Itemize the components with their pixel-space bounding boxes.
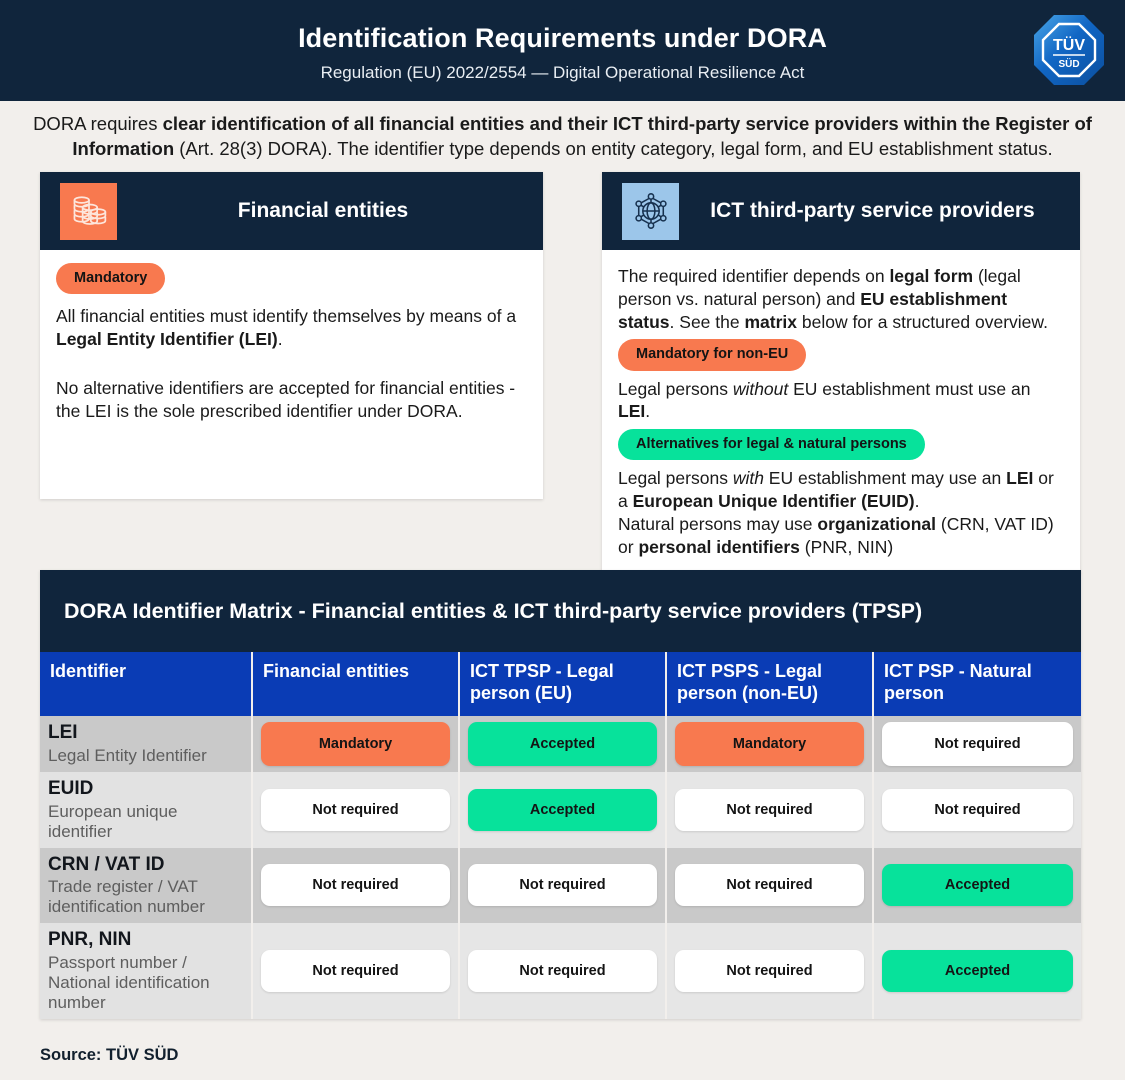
- matrix-table: Identifier Financial entities ICT TPSP -…: [40, 652, 1081, 1019]
- status-badge: Not required: [261, 950, 450, 992]
- status-badge: Not required: [882, 789, 1073, 831]
- column-header-ict-tpsp-eu: ICT TPSP - Legal person (EU): [459, 652, 666, 716]
- matrix-body: LEILegal Entity IdentifierMandatoryAccep…: [40, 716, 1081, 1019]
- identifier-name: LEI: [48, 722, 243, 744]
- status-badge: Not required: [882, 722, 1073, 766]
- status-badge: Not required: [261, 864, 450, 906]
- status-cell: Not required: [873, 772, 1081, 848]
- identifier-cell: PNR, NINPassport number / National ident…: [40, 923, 252, 1019]
- status-cell: Accepted: [873, 848, 1081, 924]
- page-header: Identification Requirements under DORA R…: [0, 0, 1125, 101]
- identifier-cell: EUIDEuropean unique identifier: [40, 772, 252, 848]
- status-cell: Mandatory: [252, 716, 459, 772]
- identifier-description: Passport number / National identificatio…: [48, 953, 243, 1013]
- status-badge: Not required: [675, 789, 864, 831]
- status-cell: Not required: [252, 923, 459, 1019]
- status-badge: Mandatory: [261, 722, 450, 766]
- status-badge: Not required: [675, 864, 864, 906]
- tuv-sud-logo: TÜV SÜD: [1031, 12, 1107, 88]
- cards-row: Financial entities Mandatory All financi…: [0, 167, 1125, 562]
- status-cell: Not required: [252, 848, 459, 924]
- column-header-financial-entities: Financial entities: [252, 652, 459, 716]
- ict-intro-b: legal form: [889, 266, 973, 286]
- status-cell: Not required: [873, 716, 1081, 772]
- card-financial-entities: Financial entities Mandatory All financi…: [40, 172, 543, 499]
- identifier-name: CRN / VAT ID: [48, 854, 243, 876]
- card-financial-text-2: No alternative identifiers are accepted …: [56, 377, 527, 423]
- column-header-ict-psps-non-eu: ICT PSPS - Legal person (non-EU): [666, 652, 873, 716]
- ict-nat-a: Natural persons may use: [618, 514, 817, 534]
- identifier-cell: CRN / VAT IDTrade register / VAT identif…: [40, 848, 252, 924]
- intro-paragraph: DORA requires clear identification of al…: [0, 101, 1125, 167]
- ict-noneu-a: Legal persons: [618, 379, 733, 399]
- identifier-description: Legal Entity Identifier: [48, 746, 243, 766]
- status-badge: Not required: [468, 950, 657, 992]
- status-cell: Not required: [459, 848, 666, 924]
- intro-part1: DORA requires: [33, 113, 163, 134]
- card-ict-eu-text: Legal persons with EU establishment may …: [618, 467, 1064, 558]
- card-financial-header: Financial entities: [40, 172, 543, 250]
- status-badge: Not required: [675, 950, 864, 992]
- table-row: EUIDEuropean unique identifierNot requir…: [40, 772, 1081, 848]
- card-ict-intro: The required identifier depends on legal…: [618, 265, 1064, 333]
- network-globe-icon: [622, 183, 679, 240]
- card-ict-title: ICT third-party service providers: [679, 199, 1080, 223]
- page-subtitle: Regulation (EU) 2022/2554 — Digital Oper…: [321, 63, 805, 83]
- intro-part2: (Art. 28(3) DORA). The identifier type d…: [174, 138, 1053, 159]
- ict-eu-b: EU establishment may use an: [764, 468, 1006, 488]
- status-badge: Accepted: [882, 864, 1073, 906]
- dora-identifier-matrix: DORA Identifier Matrix - Financial entit…: [40, 570, 1081, 1019]
- table-row: CRN / VAT IDTrade register / VAT identif…: [40, 848, 1081, 924]
- ict-eu-c: LEI: [1006, 468, 1033, 488]
- page-title: Identification Requirements under DORA: [298, 23, 827, 54]
- identifier-description: European unique identifier: [48, 802, 243, 842]
- matrix-title: DORA Identifier Matrix - Financial entit…: [40, 570, 1081, 652]
- logo-text-bottom: SÜD: [1058, 57, 1079, 70]
- status-badge: Mandatory: [675, 722, 864, 766]
- identifier-description: Trade register / VAT identification numb…: [48, 877, 243, 917]
- logo-text-top: TÜV: [1053, 35, 1085, 54]
- status-badge: Accepted: [468, 722, 657, 766]
- ict-eu-e: European Unique Identifier (EUID): [633, 491, 915, 511]
- column-header-ict-psp-natural: ICT PSP - Natural person: [873, 652, 1081, 716]
- status-cell: Accepted: [459, 716, 666, 772]
- matrix-header-row: Identifier Financial entities ICT TPSP -…: [40, 652, 1081, 716]
- fin-text1-b: Legal Entity Identifier (LEI): [56, 329, 278, 349]
- source-label: Source: TÜV SÜD: [40, 1046, 178, 1065]
- column-header-identifier: Identifier: [40, 652, 252, 716]
- status-badge: Accepted: [882, 950, 1073, 992]
- badge-mandatory: Mandatory: [56, 263, 165, 294]
- card-financial-title: Financial entities: [117, 199, 543, 223]
- card-ict-header: ICT third-party service providers: [602, 172, 1080, 250]
- card-ict-tpsp: ICT third-party service providers The re…: [602, 172, 1080, 574]
- card-ict-body: The required identifier depends on legal…: [602, 250, 1080, 574]
- status-badge: Not required: [468, 864, 657, 906]
- status-cell: Accepted: [873, 923, 1081, 1019]
- ict-eu-f: .: [915, 491, 920, 511]
- ict-intro-e: . See the: [670, 312, 745, 332]
- badge-alternatives: Alternatives for legal & natural persons: [618, 429, 925, 460]
- status-cell: Not required: [459, 923, 666, 1019]
- card-ict-noneu-text: Legal persons without EU establishment m…: [618, 378, 1064, 424]
- table-row: LEILegal Entity IdentifierMandatoryAccep…: [40, 716, 1081, 772]
- identifier-name: PNR, NIN: [48, 929, 243, 951]
- ict-noneu-i: without: [733, 379, 788, 399]
- card-financial-body: Mandatory All financial entities must id…: [40, 250, 543, 499]
- ict-intro-a: The required identifier depends on: [618, 266, 889, 286]
- status-cell: Not required: [666, 848, 873, 924]
- status-cell: Not required: [252, 772, 459, 848]
- card-financial-text-1: All financial entities must identify the…: [56, 305, 527, 351]
- status-badge: Not required: [261, 789, 450, 831]
- ict-eu-i: with: [733, 468, 764, 488]
- status-cell: Not required: [666, 923, 873, 1019]
- status-cell: Accepted: [459, 772, 666, 848]
- status-badge: Accepted: [468, 789, 657, 831]
- ict-noneu-b: EU establishment must use an: [788, 379, 1030, 399]
- identifier-name: EUID: [48, 778, 243, 800]
- coins-stack-icon: [60, 183, 117, 240]
- ict-intro-g: below for a structured overview.: [797, 312, 1048, 332]
- ict-nat-e: (PNR, NIN): [800, 537, 893, 557]
- ict-nat-b: organizational: [817, 514, 936, 534]
- ict-noneu-c: LEI: [618, 401, 645, 421]
- ict-intro-f: matrix: [744, 312, 797, 332]
- status-cell: Mandatory: [666, 716, 873, 772]
- status-cell: Not required: [666, 772, 873, 848]
- badge-mandatory-non-eu: Mandatory for non-EU: [618, 339, 806, 370]
- ict-noneu-d: .: [645, 401, 650, 421]
- ict-nat-d: personal identifiers: [638, 537, 799, 557]
- identifier-cell: LEILegal Entity Identifier: [40, 716, 252, 772]
- ict-eu-a: Legal persons: [618, 468, 733, 488]
- fin-text1-c: .: [278, 329, 283, 349]
- fin-text1-a: All financial entities must identify the…: [56, 306, 516, 326]
- table-row: PNR, NINPassport number / National ident…: [40, 923, 1081, 1019]
